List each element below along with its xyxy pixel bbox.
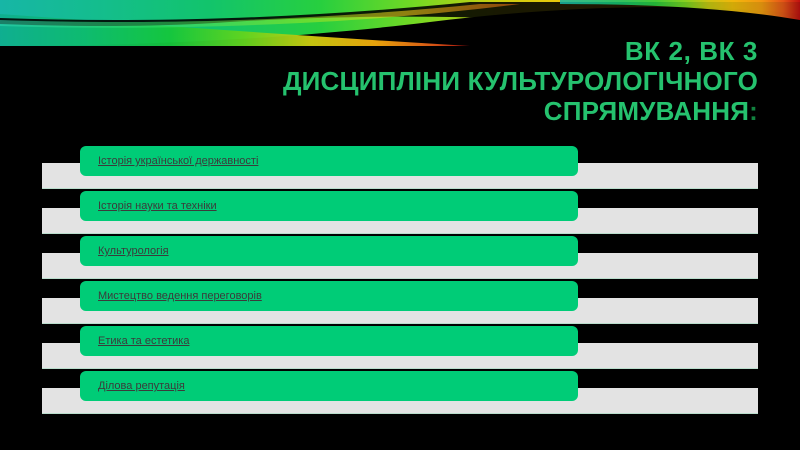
title-line-3-text: СПРЯМУВАННЯ bbox=[544, 96, 749, 126]
list-item: Мистецтво ведення переговорів bbox=[0, 281, 800, 326]
slide-canvas: ВК 2, ВК 3 ДИСЦИПЛІНИ КУЛЬТУРОЛОГІЧНОГО … bbox=[0, 0, 800, 450]
list-item-link[interactable]: Етика та естетика bbox=[98, 335, 189, 347]
list-item-link[interactable]: Мистецтво ведення переговорів bbox=[98, 290, 262, 302]
list-item-link[interactable]: Ділова репутація bbox=[98, 380, 185, 392]
list-item: Історія української державності bbox=[0, 146, 800, 191]
list-item: Етика та естетика bbox=[0, 326, 800, 371]
discipline-list: Історія української державності Історія … bbox=[0, 146, 800, 416]
title-line-2: ДИСЦИПЛІНИ КУЛЬТУРОЛОГІЧНОГО bbox=[118, 68, 758, 94]
list-item-bar[interactable]: Історія української державності bbox=[80, 146, 578, 176]
title-line-1: ВК 2, ВК 3 bbox=[118, 38, 758, 64]
title-colon: : bbox=[749, 96, 758, 126]
list-item-link[interactable]: Культурологія bbox=[98, 245, 169, 257]
list-item: Культурологія bbox=[0, 236, 800, 281]
title-line-3: СПРЯМУВАННЯ: bbox=[118, 98, 758, 124]
list-item-link[interactable]: Історія науки та техніки bbox=[98, 200, 217, 212]
list-item-bar[interactable]: Ділова репутація bbox=[80, 371, 578, 401]
list-item: Історія науки та техніки bbox=[0, 191, 800, 236]
list-item: Ділова репутація bbox=[0, 371, 800, 416]
list-item-link[interactable]: Історія української державності bbox=[98, 155, 258, 167]
list-item-bar[interactable]: Історія науки та техніки bbox=[80, 191, 578, 221]
list-item-bar[interactable]: Культурологія bbox=[80, 236, 578, 266]
list-item-bar[interactable]: Етика та естетика bbox=[80, 326, 578, 356]
page-title: ВК 2, ВК 3 ДИСЦИПЛІНИ КУЛЬТУРОЛОГІЧНОГО … bbox=[118, 38, 758, 128]
list-item-bar[interactable]: Мистецтво ведення переговорів bbox=[80, 281, 578, 311]
